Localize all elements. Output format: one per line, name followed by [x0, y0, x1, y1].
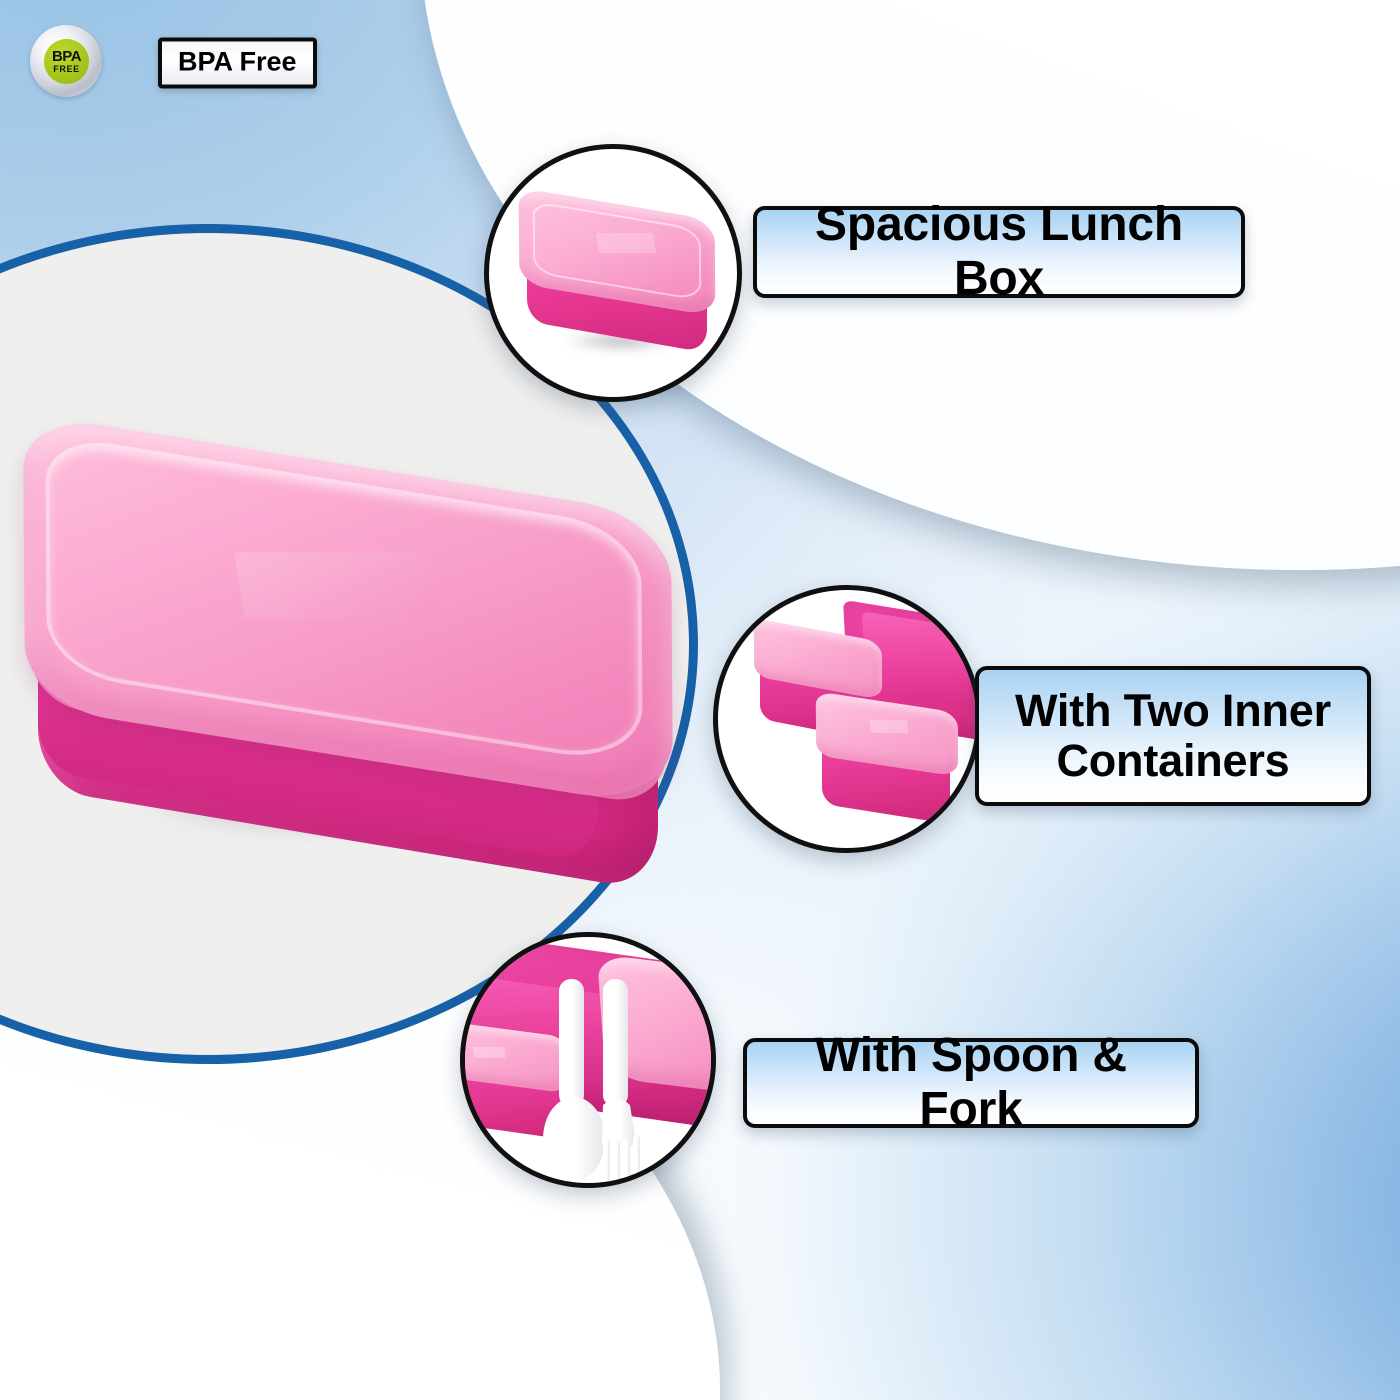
mini2-container-b-embossed-logo [869, 720, 908, 734]
feature-circle-spacious[interactable] [484, 144, 742, 402]
bpa-free-badge-group: BPA FREE BPA Free [22, 22, 322, 94]
bpa-free-pill-label: BPA Free [158, 38, 317, 89]
feature-label-spacious[interactable]: Spacious Lunch Box [753, 206, 1245, 298]
infographic-canvas: Spacious Lunch Box With Two Inner Contai… [0, 0, 1400, 1400]
hero-lid-embossed-logo [234, 551, 442, 620]
hero-product-image [20, 455, 680, 875]
label2-line1: With Two Inner [1015, 685, 1331, 736]
feature-circle-spoon-fork[interactable] [460, 932, 716, 1188]
feature-circle-inner-containers[interactable] [713, 585, 981, 853]
spoon-and-fork-photo [465, 937, 711, 1183]
bpa-seal-line2: FREE [53, 65, 79, 74]
feature-label-spacious-text: Spacious Lunch Box [779, 198, 1219, 306]
cutlery-group [543, 973, 683, 1188]
fork-icon [602, 979, 640, 1188]
spoon-icon [543, 979, 605, 1181]
feature-label-spoon-fork-text: With Spoon & Fork [769, 1029, 1173, 1137]
bpa-seal-icon: BPA FREE [44, 39, 89, 84]
mini1-embossed-logo [596, 233, 657, 253]
mini3-small-container-embossed-logo [472, 1047, 505, 1059]
closed-lunch-box-photo [489, 149, 737, 397]
label2-line2: Containers [1056, 735, 1289, 786]
feature-label-inner-containers[interactable]: With Two Inner Containers [975, 666, 1371, 806]
bpa-seal-line1: BPA [52, 49, 81, 64]
feature-label-inner-containers-text: With Two Inner Containers [1015, 686, 1331, 787]
feature-label-spoon-fork[interactable]: With Spoon & Fork [743, 1038, 1199, 1128]
two-inner-containers-photo [718, 590, 976, 848]
